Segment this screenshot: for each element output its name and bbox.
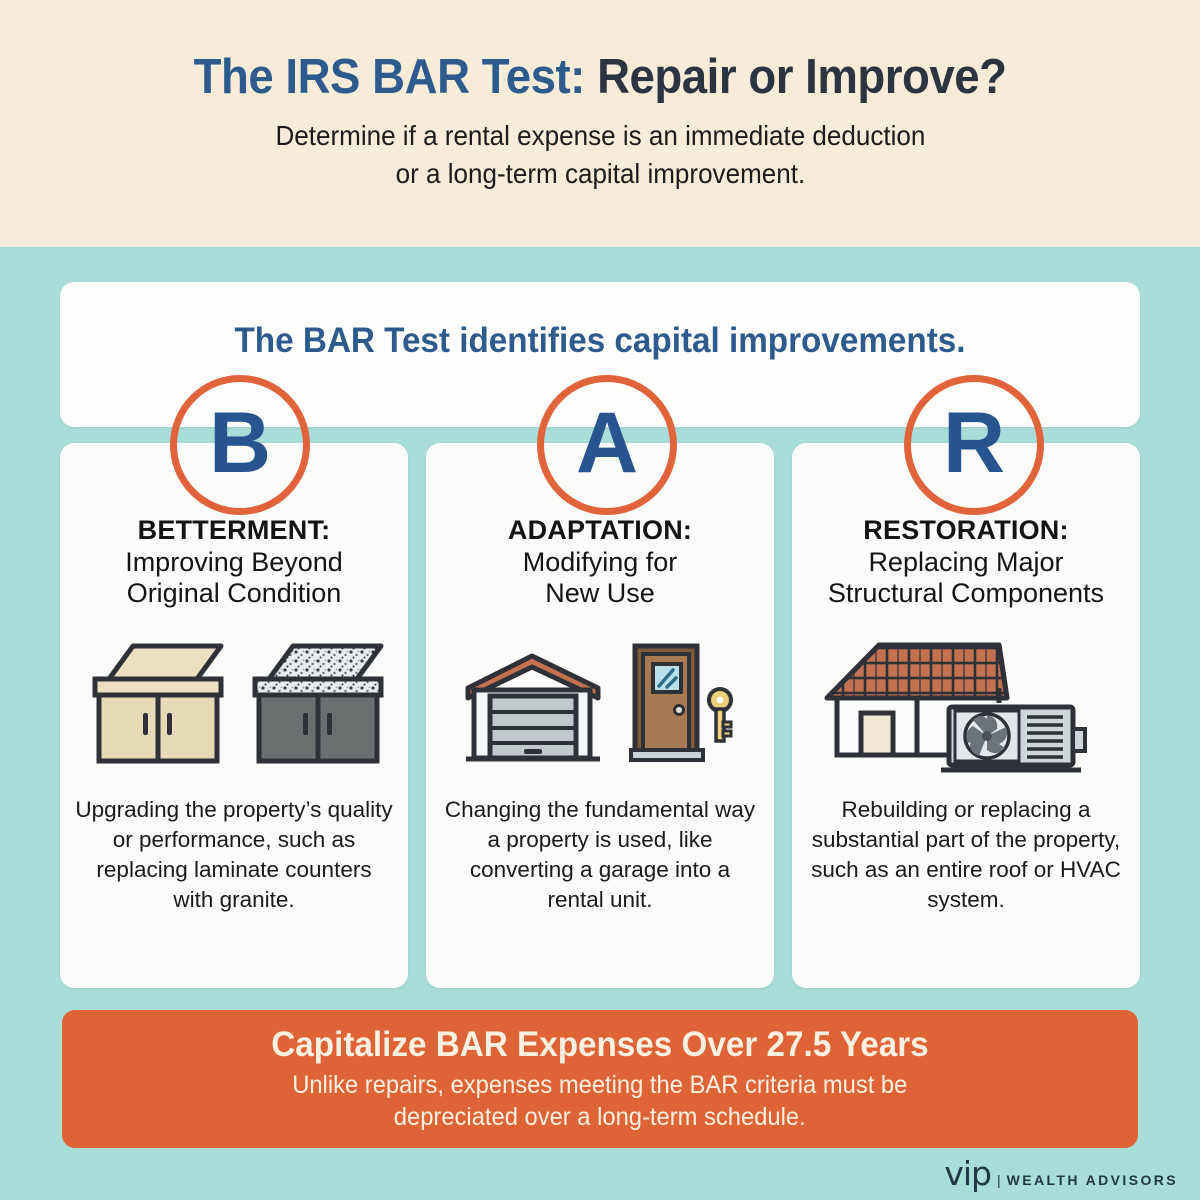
column-adaptation-description: Changing the fundamental way a property …: [440, 795, 760, 915]
hvac-unit-icon: [941, 707, 1085, 770]
cta-subtitle: Unlike repairs, expenses meeting the BAR…: [292, 1069, 907, 1134]
cta-subtitle-line2: depreciated over a long-term schedule.: [292, 1101, 907, 1134]
letter-circle-r: R: [904, 375, 1044, 515]
page-title-part1: The IRS BAR Test:: [194, 50, 585, 104]
column-betterment-subtitle-line2: Original Condition: [125, 578, 343, 610]
content-stage: The BAR Test identifies capital improvem…: [0, 247, 1200, 1200]
laminate-counter-icon: [79, 641, 229, 766]
logo-wordmark: WEALTH ADVISORS: [1007, 1172, 1178, 1188]
logo-divider: |: [997, 1172, 1001, 1188]
granite-counter-icon: [239, 641, 389, 766]
column-betterment-subtitle-line1: Improving Beyond: [125, 547, 343, 579]
column-adaptation-heading: ADAPTATION: Modifying for New Use: [508, 515, 692, 610]
column-adaptation-subtitle-line1: Modifying for: [508, 547, 692, 579]
page-title-part2: Repair or Improve?: [597, 50, 1006, 104]
column-restoration-subtitle-line1: Replacing Major: [828, 547, 1104, 579]
column-restoration-title: RESTORATION:: [828, 515, 1104, 547]
column-betterment-description: Upgrading the property’s quality or perf…: [74, 795, 394, 915]
letter-r: R: [943, 400, 1005, 486]
intro-card-text: The BAR Test identifies capital improvem…: [87, 321, 1113, 361]
letter-circle-a: A: [537, 375, 677, 515]
column-adaptation-subtitle-line2: New Use: [508, 578, 692, 610]
page-subtitle-line1: Determine if a rental expense is an imme…: [275, 117, 925, 154]
column-betterment-heading: BETTERMENT: Improving Beyond Original Co…: [125, 515, 343, 610]
cta-title: Capitalize BAR Expenses Over 27.5 Years: [271, 1025, 928, 1065]
page-subtitle: Determine if a rental expense is an imme…: [275, 117, 925, 191]
garage-icon: [458, 638, 613, 768]
letter-a: A: [576, 400, 638, 486]
column-adaptation-title: ADAPTATION:: [508, 515, 692, 547]
cta-banner: Capitalize BAR Expenses Over 27.5 Years …: [62, 1010, 1138, 1148]
letter-b: B: [209, 400, 271, 486]
column-restoration-icons: [806, 616, 1126, 791]
column-adaptation-icons: [440, 616, 760, 791]
column-betterment[interactable]: BETTERMENT: Improving Beyond Original Co…: [60, 443, 408, 988]
column-restoration-description: Rebuilding or replacing a substantial pa…: [806, 795, 1126, 915]
column-restoration-heading: RESTORATION: Replacing Major Structural …: [828, 515, 1104, 610]
page-subtitle-line2: or a long-term capital improvement.: [275, 155, 925, 192]
column-adaptation[interactable]: ADAPTATION: Modifying for New Use: [426, 443, 774, 988]
cta-subtitle-line1: Unlike repairs, expenses meeting the BAR…: [292, 1069, 907, 1102]
page-title: The IRS BAR Test: Repair or Improve?: [194, 52, 1007, 103]
column-betterment-icons: [74, 616, 394, 791]
brand-logo: vip | WEALTH ADVISORS: [944, 1154, 1178, 1193]
column-betterment-title: BETTERMENT:: [125, 515, 343, 547]
door-with-key-icon: [623, 638, 743, 768]
house-with-roof-icon: [821, 633, 1111, 773]
column-restoration[interactable]: RESTORATION: Replacing Major Structural …: [792, 443, 1140, 988]
column-restoration-subtitle-line2: Structural Components: [828, 578, 1104, 610]
logo-mark: vip: [944, 1154, 991, 1193]
header-banner: The IRS BAR Test: Repair or Improve? Det…: [0, 0, 1200, 247]
bar-columns: BETTERMENT: Improving Beyond Original Co…: [60, 443, 1140, 988]
letter-circle-b: B: [170, 375, 310, 515]
